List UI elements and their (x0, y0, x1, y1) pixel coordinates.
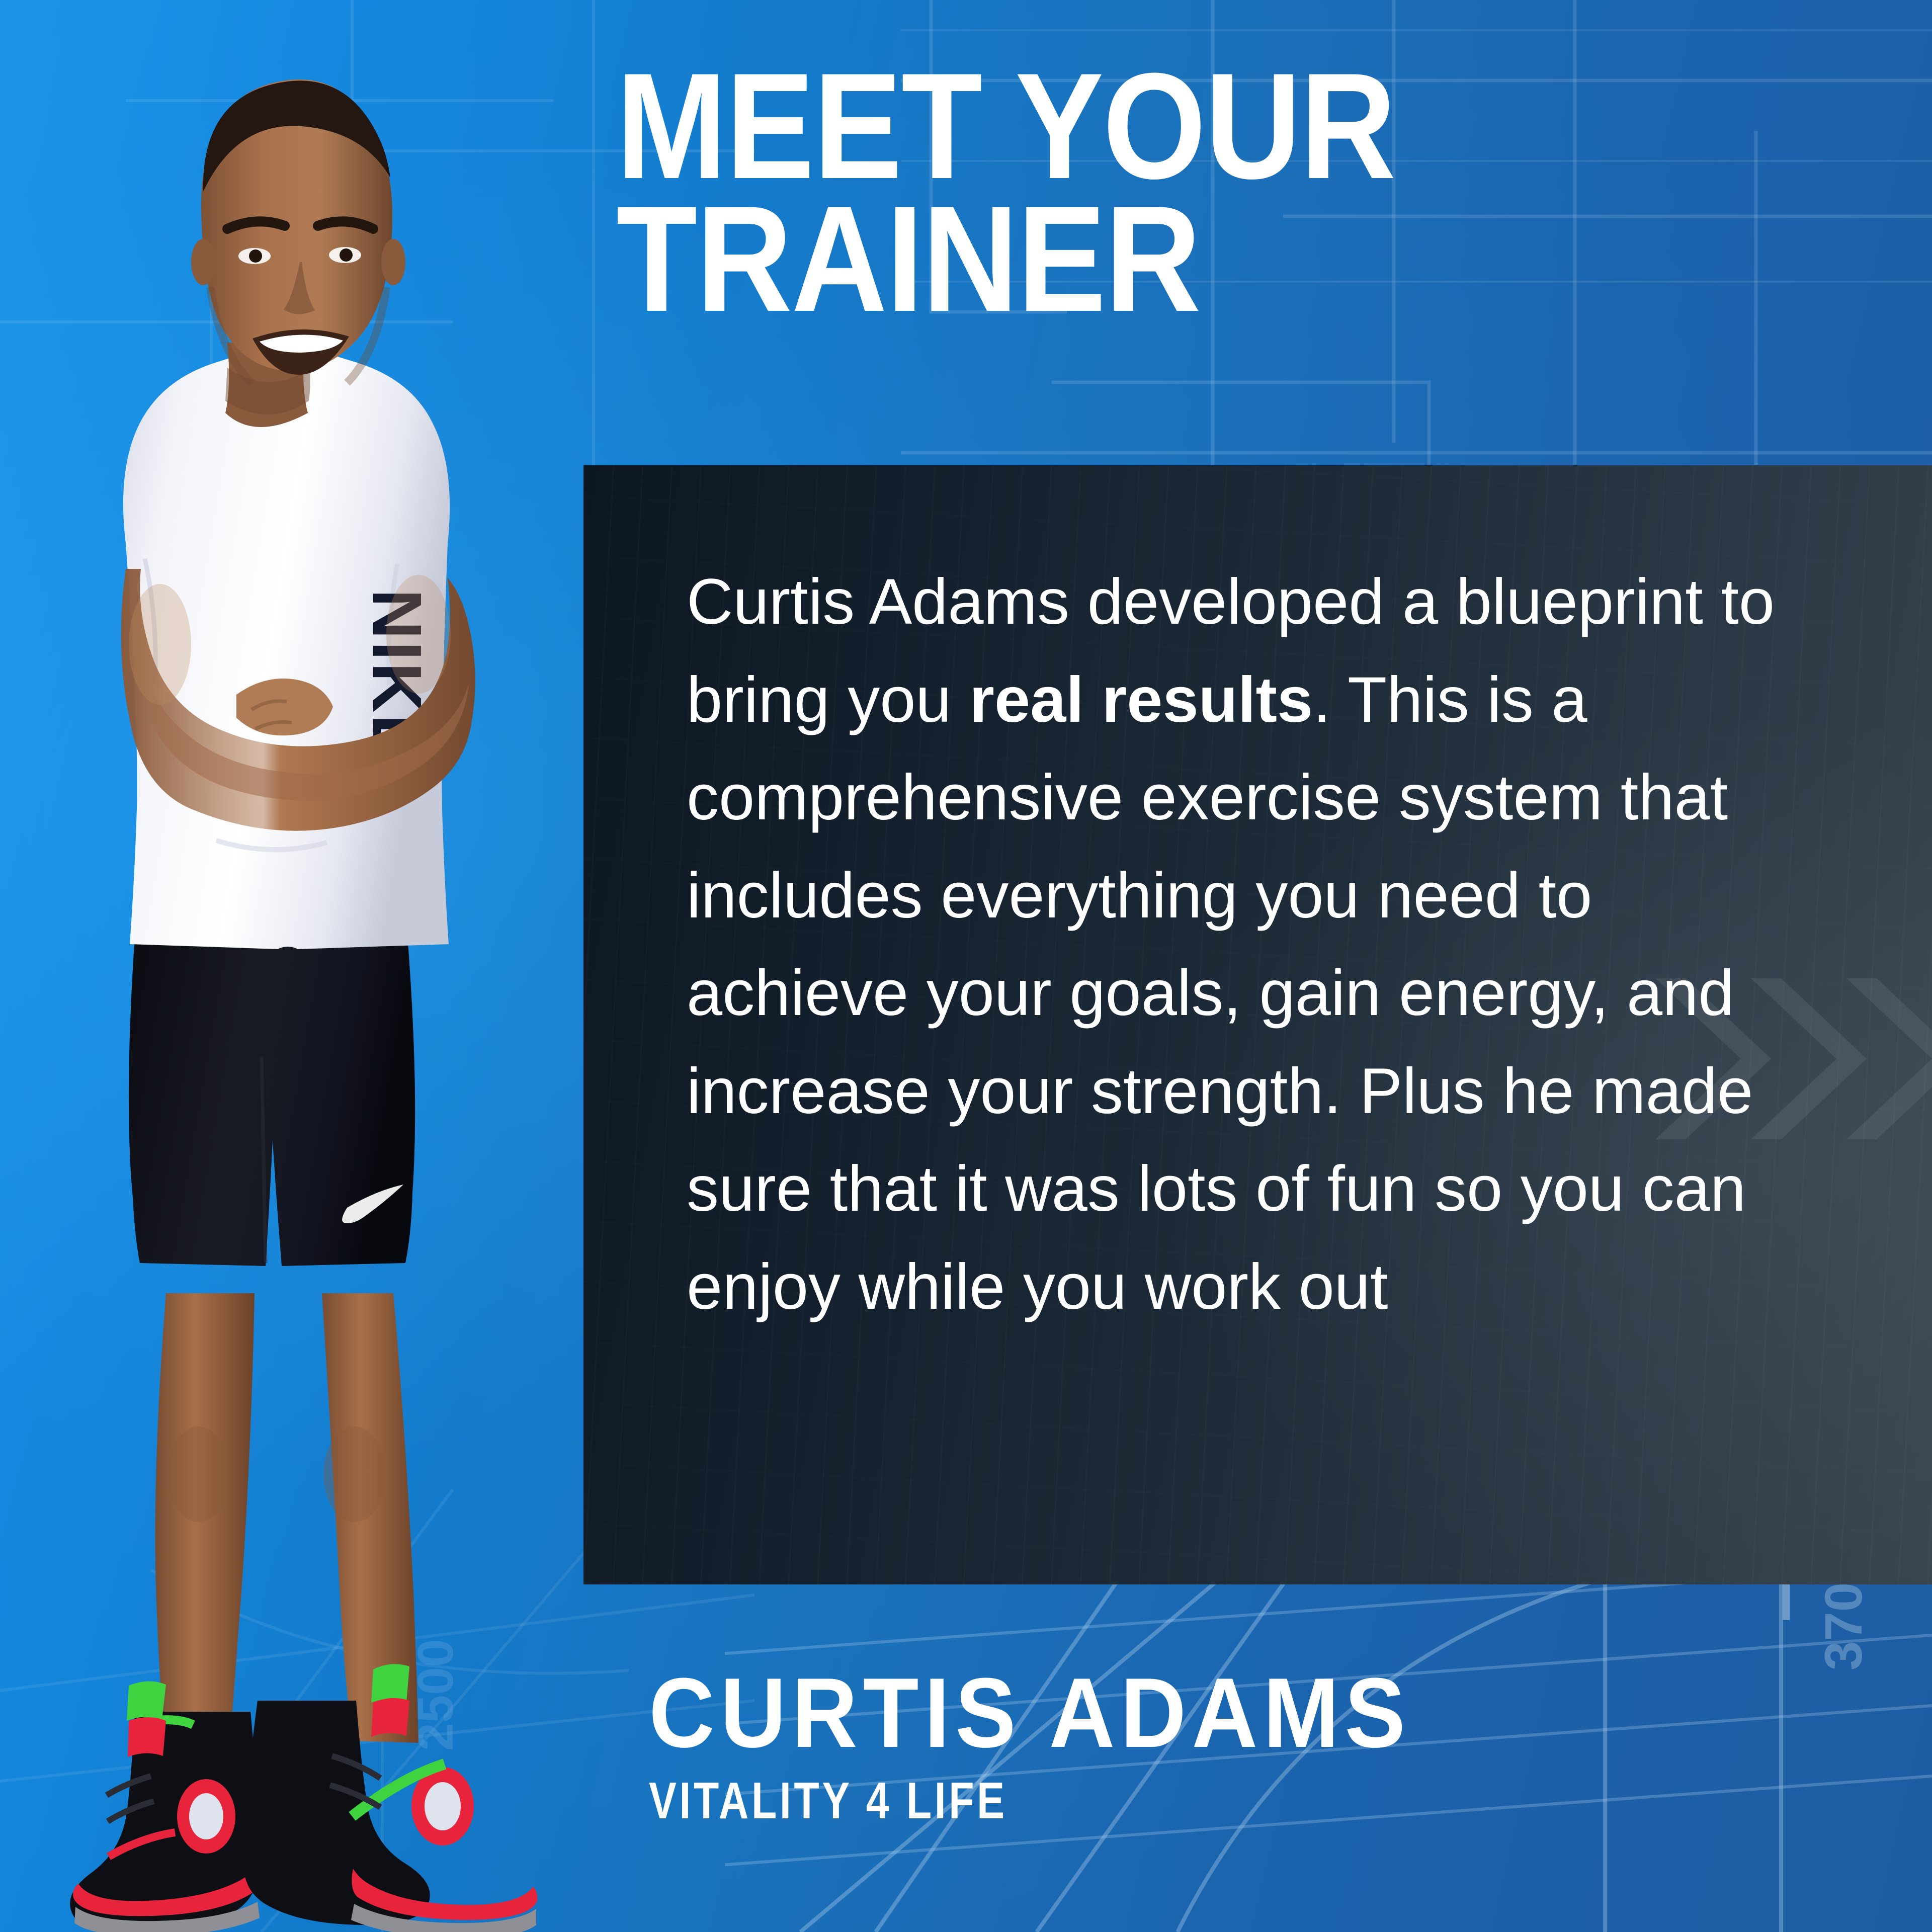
sneaker-right (243, 1664, 537, 1932)
trainer-name: CURTIS ADAMS (649, 1663, 1411, 1762)
description-part-2: . This is a comprehensive exercise syste… (687, 664, 1753, 1323)
shorts (129, 936, 415, 1266)
description-emphasis: real results (969, 664, 1313, 736)
trainer-photo: NIKE (0, 26, 649, 1932)
description-panel: Curtis Adams developed a blueprint to br… (583, 465, 1932, 1584)
description-text: Curtis Adams developed a blueprint to br… (687, 553, 1831, 1336)
trainer-tagline: VITALITY 4 LIFE (649, 1775, 1312, 1826)
poster-canvas: 1500 3700 2500 Curtis Adams developed a … (0, 0, 1932, 1932)
trainer-identity: CURTIS ADAMS VITALITY 4 LIFE (649, 1663, 1477, 1826)
headline-line-2: TRAINER (616, 174, 1200, 343)
page-title: MEET YOURTRAINER (616, 59, 1395, 325)
sneaker-left (70, 1681, 260, 1932)
